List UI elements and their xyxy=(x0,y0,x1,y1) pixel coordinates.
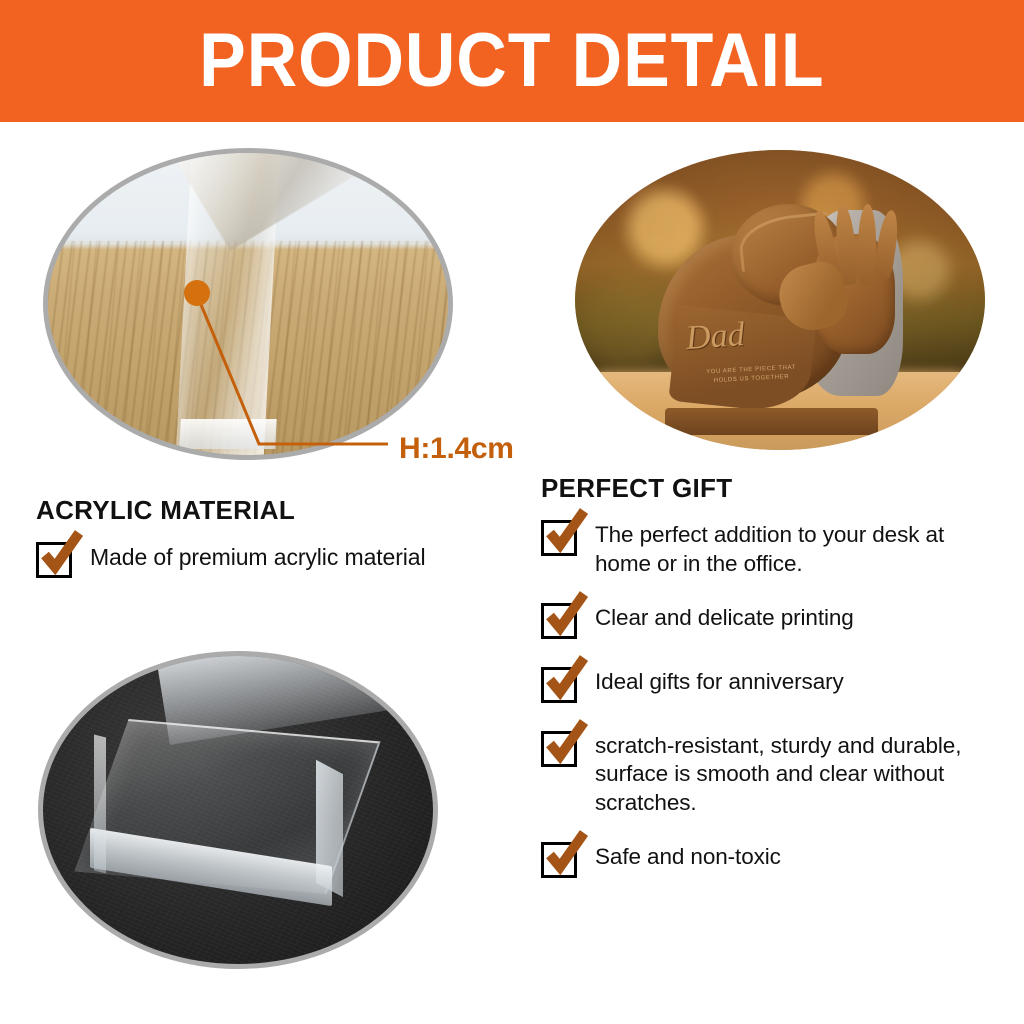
acrylic-material-feature-list: Made of premium acrylic material xyxy=(36,540,516,578)
perfect-gift-feature-list: The perfect addition to your desk at hom… xyxy=(541,518,1001,878)
checkmark-icon xyxy=(542,831,590,879)
checkbox-checked xyxy=(36,542,72,578)
checkmark-icon xyxy=(37,531,85,579)
heart-sculpture-photo: Dad YOU ARE THE PIECE THAT HOLDS US TOGE… xyxy=(575,150,985,450)
perfect-gift-heading: PERFECT GIFT xyxy=(541,473,1001,504)
checkmark-icon xyxy=(542,656,590,704)
checkbox-checked xyxy=(541,842,577,878)
list-item: scratch-resistant, sturdy and durable, s… xyxy=(541,729,1001,818)
list-item-label: Made of premium acrylic material xyxy=(90,540,426,572)
checkmark-icon xyxy=(542,592,590,640)
acrylic-block-left-edge xyxy=(94,735,106,873)
list-item: Ideal gifts for anniversary xyxy=(541,665,1001,703)
checkbox-checked xyxy=(541,667,577,703)
heart-engraving-script: Dad xyxy=(684,316,745,358)
list-item: The perfect addition to your desk at hom… xyxy=(541,518,1001,579)
sculpture-base xyxy=(665,408,878,435)
list-item-label: Clear and delicate printing xyxy=(595,601,854,633)
list-item-label: The perfect addition to your desk at hom… xyxy=(595,518,1001,579)
perfect-gift-section: PERFECT GIFT The perfect addition to you… xyxy=(541,473,1001,904)
acrylic-material-heading: ACRYLIC MATERIAL xyxy=(36,495,516,526)
checkbox-checked xyxy=(541,603,577,639)
header-banner: PRODUCT DETAIL xyxy=(0,0,1024,122)
list-item: Clear and delicate printing xyxy=(541,601,1001,639)
page-title: PRODUCT DETAIL xyxy=(199,23,824,99)
list-item-label: scratch-resistant, sturdy and durable, s… xyxy=(595,729,1001,818)
list-item: Made of premium acrylic material xyxy=(36,540,516,578)
acrylic-base-highlight xyxy=(179,419,277,449)
checkbox-checked xyxy=(541,731,577,767)
height-measure-label: H:1.4cm xyxy=(399,432,514,466)
acrylic-edge-photo xyxy=(43,148,453,460)
acrylic-material-section: ACRYLIC MATERIAL Made of premium acrylic… xyxy=(36,495,516,604)
checkmark-icon xyxy=(542,509,590,557)
carved-finger xyxy=(857,204,876,285)
checkbox-checked xyxy=(541,520,577,556)
list-item-label: Ideal gifts for anniversary xyxy=(595,665,844,697)
checkmark-icon xyxy=(542,720,590,768)
acrylic-block-photo xyxy=(38,651,438,969)
list-item: Safe and non-toxic xyxy=(541,840,1001,878)
list-item-label: Safe and non-toxic xyxy=(595,840,781,872)
